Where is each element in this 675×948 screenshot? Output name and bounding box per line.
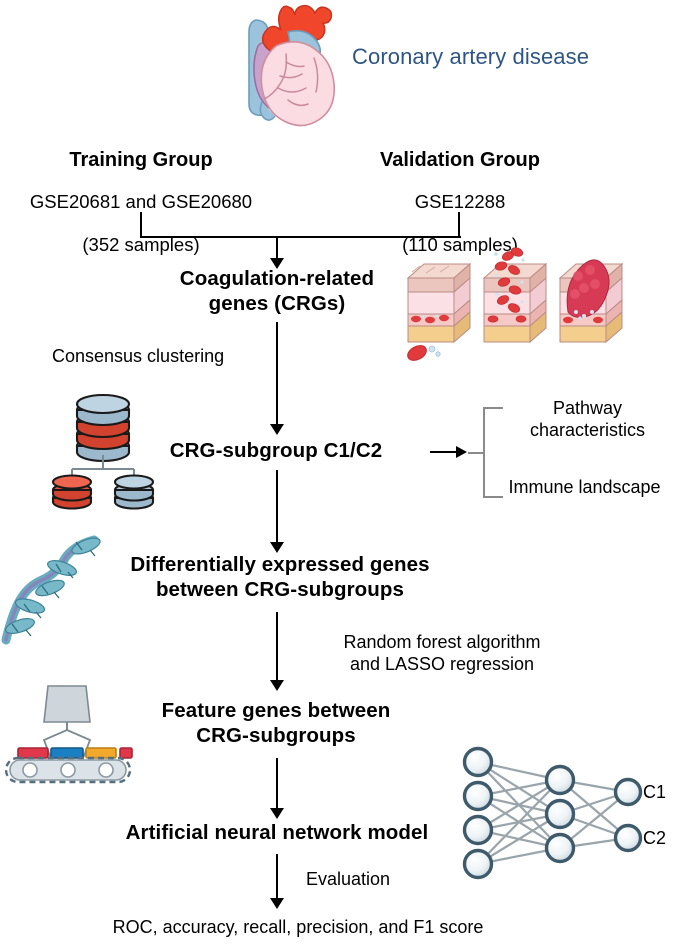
nn-output-node — [616, 780, 641, 805]
cohort-training: Training Group GSE20681 and GSE20680 (35… — [10, 128, 272, 276]
step-degs: Differentially expressed genes between C… — [100, 552, 460, 602]
nn-output-label-c2: C2 — [643, 828, 666, 849]
connector-degs-to-feature — [276, 612, 278, 684]
arrow-to-metrics — [270, 898, 284, 909]
step-feature-genes: Feature genes between CRG-subgroups — [126, 698, 426, 748]
connector-merge-bar — [140, 236, 461, 238]
arrow-to-feature-genes — [270, 680, 284, 691]
step-crg-subgroup: CRG-subgroup C1/C2 — [126, 438, 426, 463]
step-crgs: Coagulation-related genes (CRGs) — [124, 266, 430, 316]
nn-input-node — [465, 817, 492, 844]
step-ann-model: Artificial neural network model — [92, 820, 462, 845]
blood-cell-icon — [404, 340, 454, 364]
edge-label-evaluation: Evaluation — [306, 869, 446, 891]
cohort-training-datasets: GSE20681 and GSE20680 — [10, 191, 272, 214]
cohort-training-heading: Training Group — [10, 148, 272, 172]
branch-output-pathway: Pathway characteristics — [500, 398, 675, 442]
edge-label-selection-methods: Random forest algorithm and LASSO regres… — [316, 632, 568, 676]
nn-output-node — [616, 826, 641, 851]
connector-training-stem — [140, 212, 142, 238]
nn-input-node — [465, 851, 492, 878]
nn-input-node — [465, 749, 492, 776]
dna-helix-icon — [2, 532, 106, 648]
nn-hidden-node — [547, 767, 574, 794]
nn-hidden-node — [547, 801, 574, 828]
bracket-stem — [468, 452, 484, 454]
heart-anatomy-icon — [228, 2, 358, 124]
connector-ann-to-metrics — [276, 854, 278, 902]
connector-subgroup-to-degs — [276, 470, 278, 546]
connector-merge-down — [276, 236, 278, 260]
cohort-validation-datasets: GSE12288 — [332, 191, 588, 214]
neural-network-diagram — [452, 748, 675, 876]
gene-selection-conveyor-icon — [4, 676, 132, 780]
branch-output-immune: Immune landscape — [492, 477, 675, 499]
connector-crgs-to-subgroup — [276, 322, 278, 428]
cohort-validation-heading: Validation Group — [332, 148, 588, 172]
connector-feature-to-ann — [276, 758, 278, 812]
edge-label-consensus-clustering: Consensus clustering — [52, 346, 262, 368]
arrow-to-subgroup — [270, 424, 284, 435]
nn-hidden-node — [547, 835, 574, 862]
nn-output-label-c1: C1 — [643, 782, 666, 803]
arrow-to-ann-model — [270, 808, 284, 819]
nn-input-node — [465, 783, 492, 810]
step-metrics: ROC, accuracy, recall, precision, and F1… — [28, 917, 568, 939]
connector-subgroup-to-branch — [430, 451, 458, 453]
connector-validation-stem — [458, 212, 460, 238]
page-title: Coronary artery disease — [352, 44, 632, 71]
arrow-to-branch — [456, 446, 467, 458]
bracket-spine — [483, 407, 485, 498]
